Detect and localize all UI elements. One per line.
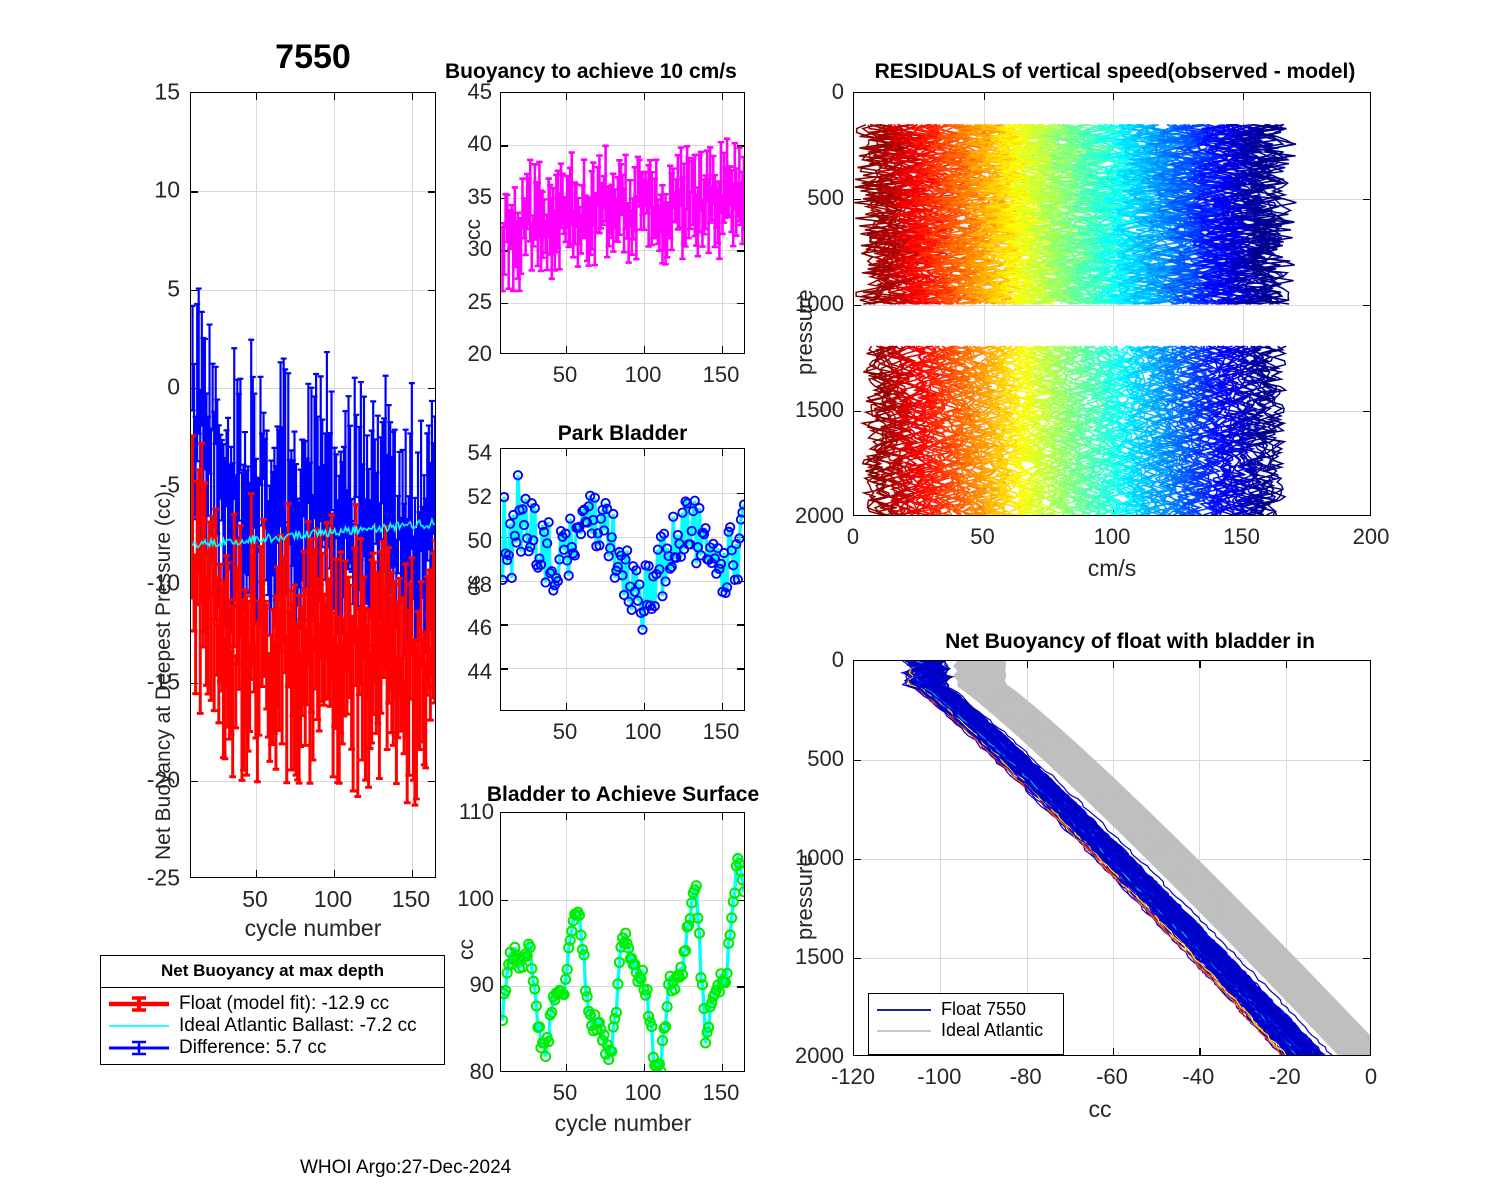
bladder-in-xtick-5: -20 [1269,1064,1301,1090]
bladder-in-xtick-2: -80 [1010,1064,1042,1090]
residuals-ytick-4: 2000 [778,503,844,529]
residuals-xtick-2: 100 [1094,524,1131,550]
park-bladder-ytick-5: 44 [440,659,492,685]
buoyancy-10cms-ytick-1: 40 [440,131,492,157]
legend-label-ideal-ballast: Ideal Atlantic Ballast: -7.2 cc [179,1015,417,1037]
residuals-ytick-1: 500 [790,185,844,211]
line-cyan-icon [107,1017,171,1035]
bladder-in-ytick-1: 500 [790,746,844,772]
bladder-surface-plot [501,813,744,1071]
bladder-in-xtick-1: -100 [917,1064,961,1090]
net-buoyancy-ytick-8: -25 [128,865,180,892]
buoyancy-10cms-ytick-4: 25 [440,289,492,315]
bladder-in-ytick-2: 1000 [778,845,844,871]
park-bladder-title: Park Bladder [500,422,745,446]
errorbar-red-icon [107,995,171,1013]
buoyancy-10cms-ytick-2: 35 [440,184,492,210]
buoyancy-10cms-xtick-1: 100 [625,362,662,388]
net-buoyancy-ytick-3: 0 [128,373,180,400]
legend-label-float: Float (model fit): -12.9 cc [179,993,389,1015]
park-bladder-axes [500,448,745,711]
line-gray-icon [875,1024,933,1038]
residuals-ytick-0: 0 [800,79,844,105]
park-bladder-ytick-1: 52 [440,484,492,510]
buoyancy-10cms-axes [500,92,745,354]
bladder-surface-ytick-3: 80 [432,1059,494,1085]
buoyancy-10cms-plot [501,93,744,353]
residuals-xtick-3: 150 [1223,524,1260,550]
buoyancy-10cms-ytick-5: 20 [440,341,492,367]
park-bladder-ytick-4: 46 [440,615,492,641]
park-bladder-xtick-2: 150 [703,719,740,745]
residuals-ytick-2: 1000 [778,291,844,317]
buoyancy-10cms-xtick-0: 50 [553,362,577,388]
legend-label-difference: Difference: 5.7 cc [179,1037,327,1059]
net-buoyancy-xtick-0: 50 [242,886,268,913]
park-bladder-ytick-2: 50 [440,528,492,554]
bladder-surface-title: Bladder to Achieve Surface [468,783,778,807]
residuals-xtick-0: 0 [847,524,859,550]
bladder-surface-ytick-0: 110 [432,799,494,825]
bladder-surface-xtick-2: 150 [703,1080,740,1106]
bladder-surface-ytick-2: 90 [432,972,494,998]
net-buoyancy-ytick-6: -15 [128,668,180,695]
buoyancy-10cms-xtick-2: 150 [703,362,740,388]
net-buoyancy-xtick-2: 150 [392,886,430,913]
legend-label-float-7550: Float 7550 [941,999,1026,1020]
net-buoyancy-ytick-4: -5 [128,472,180,499]
bladder-in-legend: Float 7550 Ideal Atlantic [868,993,1064,1055]
legend-item-float-7550[interactable]: Float 7550 [875,999,1057,1020]
net-buoyancy-axes [190,92,436,878]
bladder-in-xtick-0: -120 [831,1064,875,1090]
net-buoyancy-ytick-1: 10 [128,177,180,204]
buoyancy-10cms-ytick-0: 45 [440,79,492,105]
residuals-ytick-3: 1500 [778,397,844,423]
residuals-xtick-4: 200 [1353,524,1390,550]
legend-item-ideal-atlantic[interactable]: Ideal Atlantic [875,1020,1057,1041]
residuals-xtick-1: 50 [970,524,994,550]
net-buoyancy-xlabel: cycle number [245,915,382,942]
figure-footer: WHOI Argo:27-Dec-2024 [300,1157,511,1179]
figure-canvas: 7550 Net Buoyancy at Deepest Pressure (c… [0,0,1500,1200]
residuals-xlabel: cm/s [1088,555,1137,582]
bladder-in-xlabel: cc [1089,1096,1112,1123]
bladder-in-ytick-3: 1500 [778,944,844,970]
park-bladder-xtick-1: 100 [625,719,662,745]
net-buoyancy-legend: Net Buoyancy at max depth Float (model f… [100,955,445,1065]
buoyancy-10cms-title: Buoyancy to achieve 10 cm/s [445,60,795,84]
legend-title: Net Buoyancy at max depth [101,956,444,988]
net-buoyancy-plot [191,93,435,877]
net-buoyancy-ytick-0: 15 [128,79,180,106]
net-buoyancy-title: 7550 [190,38,436,77]
residuals-axes [853,92,1371,516]
park-bladder-ytick-3: 48 [440,572,492,598]
net-buoyancy-ytick-2: 5 [128,275,180,302]
bladder-surface-ytick-1: 100 [432,886,494,912]
legend-item-difference[interactable]: Difference: 5.7 cc [107,1037,438,1059]
bladder-surface-ylabel: cc [455,939,479,960]
park-bladder-ytick-0: 54 [440,440,492,466]
bladder-surface-xtick-1: 100 [625,1080,662,1106]
legend-label-ideal-atlantic: Ideal Atlantic [941,1020,1043,1041]
net-buoyancy-ytick-7: -20 [128,766,180,793]
errorbar-blue-icon [107,1039,171,1057]
legend-item-ideal-ballast[interactable]: Ideal Atlantic Ballast: -7.2 cc [107,1015,438,1037]
net-buoyancy-xtick-1: 100 [314,886,352,913]
bladder-in-ytick-0: 0 [800,647,844,673]
legend-item-float[interactable]: Float (model fit): -12.9 cc [107,993,438,1015]
buoyancy-10cms-ytick-3: 30 [440,236,492,262]
residuals-plot [854,93,1370,515]
bladder-surface-axes [500,812,745,1072]
bladder-in-xtick-6: 0 [1365,1064,1377,1090]
line-navy-icon [875,1003,933,1017]
park-bladder-plot [501,449,744,710]
park-bladder-xtick-0: 50 [553,719,577,745]
bladder-in-title: Net Buoyancy of float with bladder in [880,630,1380,654]
net-buoyancy-ytick-5: -10 [128,570,180,597]
bladder-surface-xlabel: cycle number [555,1110,692,1137]
residuals-title: RESIDUALS of vertical speed(observed - m… [845,60,1385,84]
bladder-in-xtick-4: -40 [1182,1064,1214,1090]
bladder-surface-xtick-0: 50 [553,1080,577,1106]
bladder-in-xtick-3: -60 [1096,1064,1128,1090]
